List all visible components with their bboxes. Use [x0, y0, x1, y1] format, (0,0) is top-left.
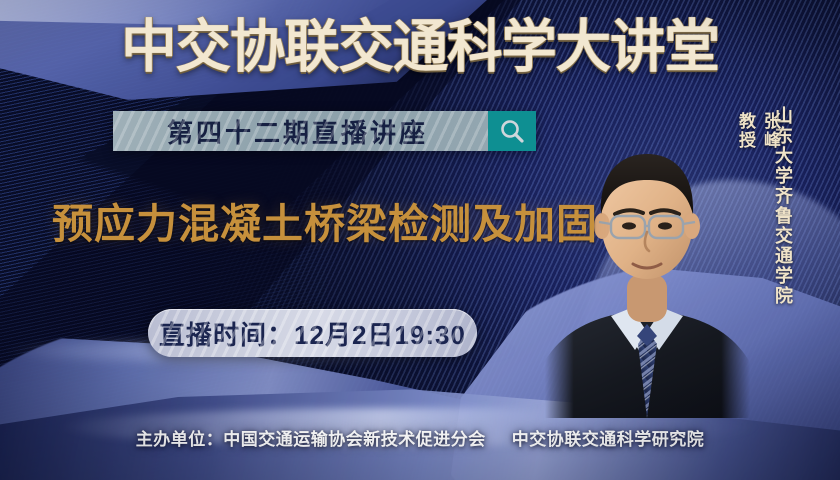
- vignette-overlay: [0, 0, 840, 480]
- live-lecture-poster: 中交协联交通科学大讲堂 第四十二期直播讲座 预应力混凝土桥梁检测及加固 直播时间…: [0, 0, 840, 480]
